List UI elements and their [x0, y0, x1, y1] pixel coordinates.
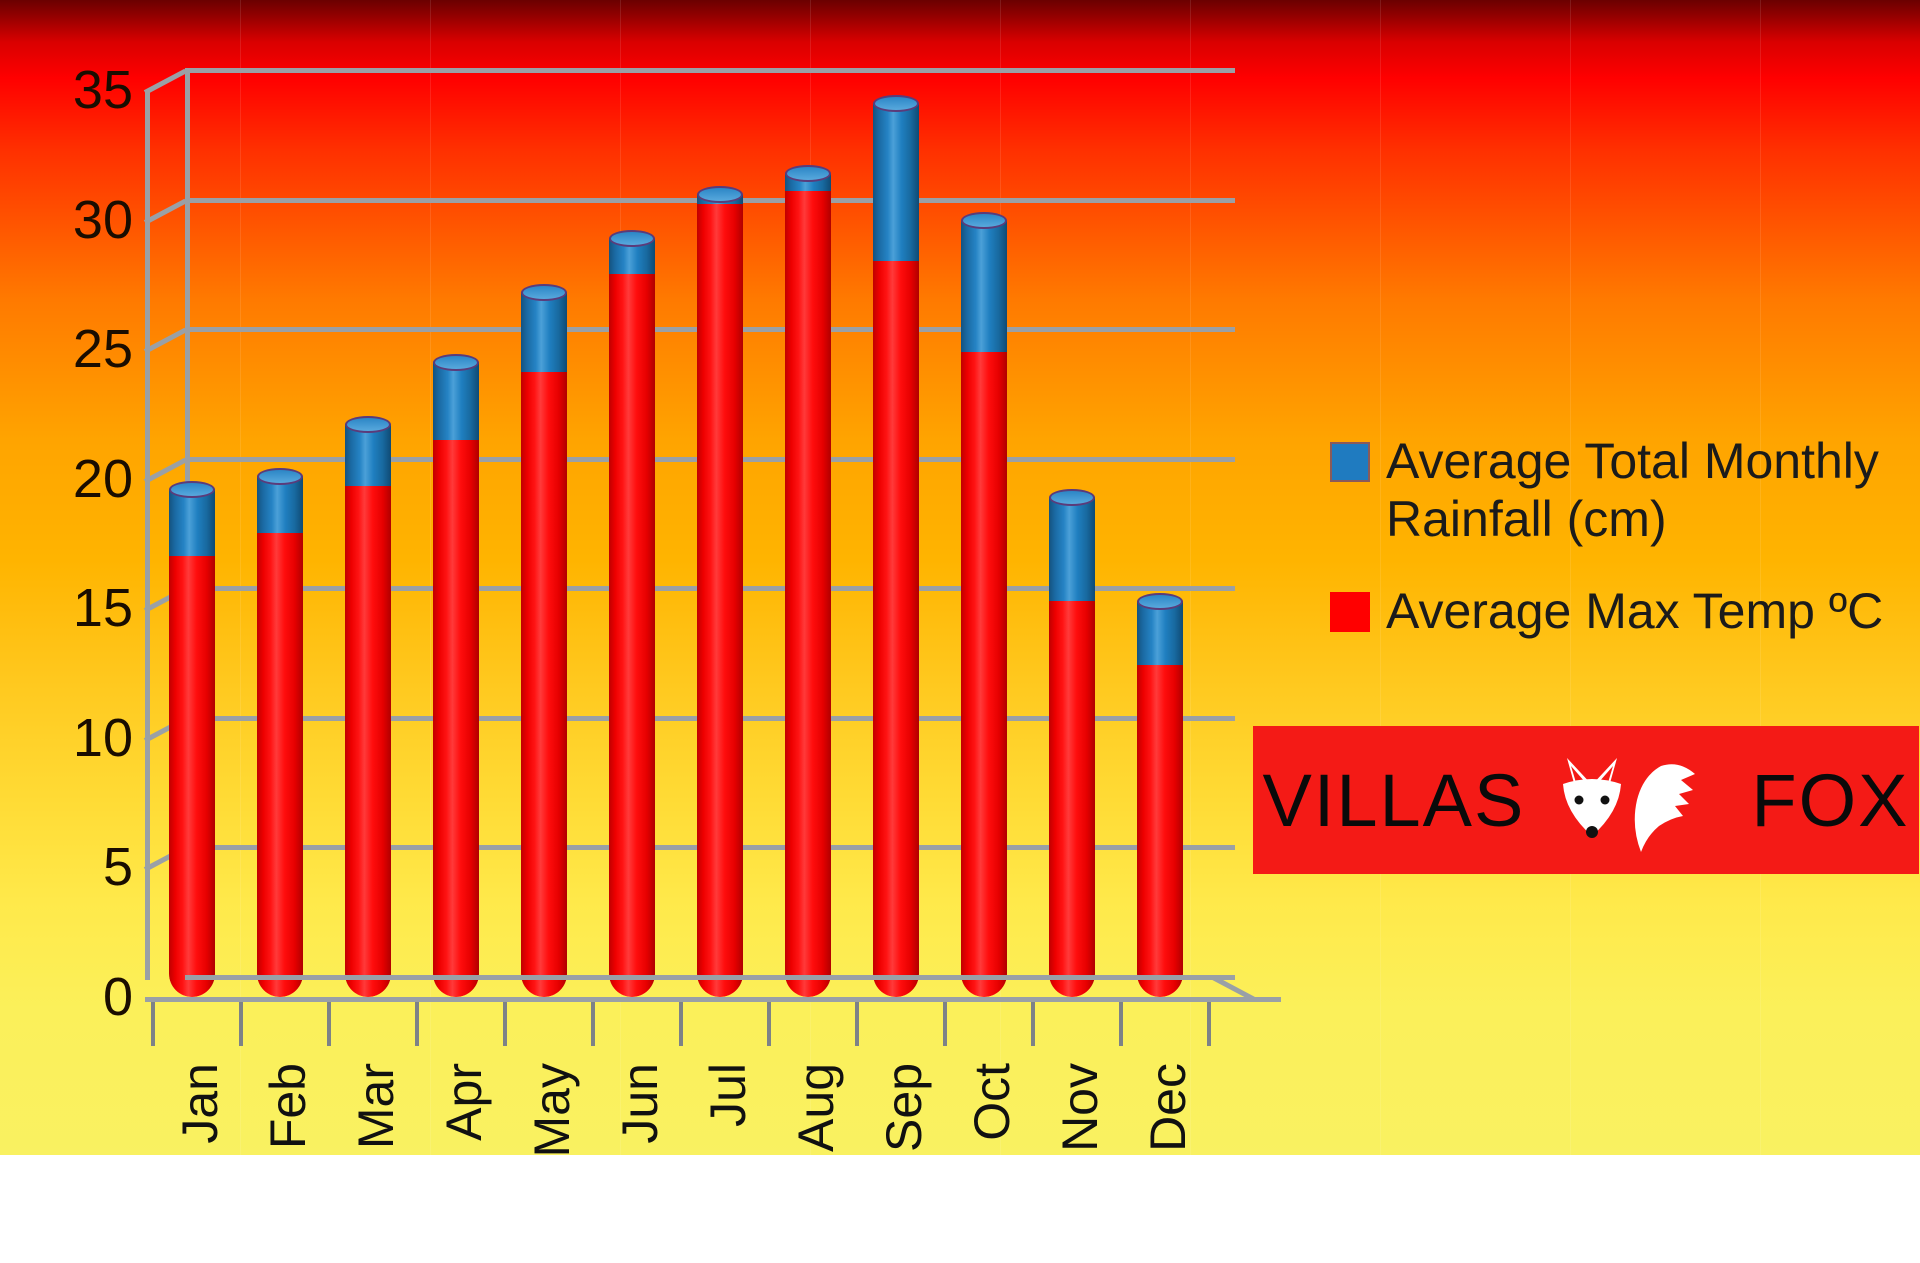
cylinder-top-cap — [697, 186, 743, 203]
segment-body — [1049, 601, 1095, 997]
x-axis-label-mar: Mar — [347, 1063, 405, 1263]
bar-segment-temperature-jul[interactable] — [697, 204, 743, 997]
chart-legend: Average Total Monthly Rainfall (cm) Aver… — [1330, 432, 1890, 674]
y-tick-label-0: 0 — [23, 966, 133, 1028]
bar-segment-temperature-sep[interactable] — [873, 261, 919, 997]
red-square-swatch-icon — [1330, 592, 1370, 632]
segment-body — [521, 372, 567, 997]
segment-body — [785, 191, 831, 997]
x-tick-end — [1207, 1002, 1211, 1046]
legend-item-rainfall[interactable]: Average Total Monthly Rainfall (cm) — [1330, 432, 1890, 548]
segment-body — [521, 292, 567, 372]
blue-square-swatch-icon — [1330, 442, 1370, 482]
gridline-35 — [185, 68, 1235, 73]
cylinder-top-cap — [961, 212, 1007, 229]
x-axis-label-jan: Jan — [171, 1063, 229, 1263]
segment-body — [169, 489, 215, 556]
bar-segment-temperature-jun[interactable] — [609, 274, 655, 997]
segment-body — [1137, 665, 1183, 997]
cylinder-top-cap — [785, 165, 831, 182]
logo-word-fox: FOX — [1751, 758, 1909, 843]
segment-body — [433, 362, 479, 440]
bar-segment-rainfall-mar[interactable] — [345, 424, 391, 486]
bar-segment-rainfall-apr[interactable] — [433, 362, 479, 440]
floor-front-edge — [145, 997, 1281, 1002]
gridline-riser-25 — [144, 328, 187, 354]
cylinder-top-cap — [609, 230, 655, 247]
bar-segment-temperature-may[interactable] — [521, 372, 567, 997]
cylinder-top-cap — [257, 468, 303, 485]
segment-body — [345, 486, 391, 997]
x-axis-label-feb: Feb — [259, 1063, 317, 1263]
x-tick-jul — [679, 1002, 683, 1046]
cylinder-top-cap — [433, 354, 479, 371]
bar-feb[interactable] — [257, 476, 303, 997]
bar-segment-temperature-mar[interactable] — [345, 486, 391, 997]
bar-mar[interactable] — [345, 424, 391, 997]
chart-root: JanFebMarAprMayJunJulAugSepOctNovDec 051… — [0, 0, 1920, 1155]
x-axis-label-oct: Oct — [963, 1063, 1021, 1263]
bar-jun[interactable] — [609, 238, 655, 997]
bar-oct[interactable] — [961, 220, 1007, 997]
bar-segment-rainfall-oct[interactable] — [961, 220, 1007, 352]
bar-segment-temperature-jan[interactable] — [169, 556, 215, 997]
x-tick-dec — [1119, 1002, 1123, 1046]
x-tick-mar — [327, 1002, 331, 1046]
bar-segment-rainfall-jul[interactable] — [697, 194, 743, 204]
bar-apr[interactable] — [433, 362, 479, 997]
x-tick-apr — [415, 1002, 419, 1046]
x-tick-nov — [1031, 1002, 1035, 1046]
y-tick-label-35: 35 — [23, 59, 133, 121]
cylinder-top-cap — [169, 481, 215, 498]
segment-body — [1049, 497, 1095, 601]
x-tick-jan — [151, 1002, 155, 1046]
segment-body — [169, 556, 215, 997]
x-axis-label-sep: Sep — [875, 1063, 933, 1263]
bar-segment-rainfall-sep[interactable] — [873, 103, 919, 261]
segment-body — [1137, 601, 1183, 666]
bar-segment-temperature-aug[interactable] — [785, 191, 831, 997]
floor-back-edge — [185, 975, 1235, 980]
bar-segment-rainfall-dec[interactable] — [1137, 601, 1183, 666]
y-tick-label-5: 5 — [23, 836, 133, 898]
segment-body — [961, 220, 1007, 352]
segment-body — [609, 274, 655, 997]
bar-segment-rainfall-may[interactable] — [521, 292, 567, 372]
y-axis-labels: 05101520253035 — [23, 68, 133, 980]
y-tick-label-15: 15 — [23, 577, 133, 639]
bar-segment-rainfall-jan[interactable] — [169, 489, 215, 556]
plot-area: JanFebMarAprMayJunJulAugSepOctNovDec 051… — [145, 68, 1235, 980]
bar-jan[interactable] — [169, 489, 215, 997]
bar-segment-rainfall-jun[interactable] — [609, 238, 655, 274]
x-axis-label-apr: Apr — [435, 1063, 493, 1263]
bar-segment-temperature-apr[interactable] — [433, 440, 479, 997]
x-tick-may — [503, 1002, 507, 1046]
y-tick-label-10: 10 — [23, 707, 133, 769]
y-tick-label-25: 25 — [23, 318, 133, 380]
y-tick-label-30: 30 — [23, 189, 133, 251]
cylinder-top-cap — [1049, 489, 1095, 506]
villas-fox-logo[interactable]: VILLAS FOX — [1253, 726, 1919, 874]
x-axis-label-dec: Dec — [1139, 1063, 1197, 1263]
bar-sep[interactable] — [873, 103, 919, 997]
cylinder-top-cap — [1137, 593, 1183, 610]
bar-nov[interactable] — [1049, 497, 1095, 997]
x-tick-jun — [591, 1002, 595, 1046]
bar-segment-temperature-nov[interactable] — [1049, 601, 1095, 997]
segment-body — [433, 440, 479, 997]
fox-head-icon — [1543, 740, 1733, 860]
bar-may[interactable] — [521, 292, 567, 997]
legend-label-temperature: Average Max Temp ºC — [1386, 582, 1883, 640]
bar-segment-rainfall-feb[interactable] — [257, 476, 303, 533]
legend-label-rainfall: Average Total Monthly Rainfall (cm) — [1386, 432, 1890, 548]
gridline-riser-30 — [144, 198, 187, 224]
x-axis-label-aug: Aug — [787, 1063, 845, 1263]
bar-aug[interactable] — [785, 173, 831, 997]
x-axis-label-nov: Nov — [1051, 1063, 1109, 1263]
x-tick-oct — [943, 1002, 947, 1046]
segment-body — [873, 261, 919, 997]
bar-segment-rainfall-nov[interactable] — [1049, 497, 1095, 601]
legend-item-temperature[interactable]: Average Max Temp ºC — [1330, 582, 1890, 640]
bar-segment-temperature-dec[interactable] — [1137, 665, 1183, 997]
bar-dec[interactable] — [1137, 601, 1183, 997]
logo-word-villas: VILLAS — [1262, 758, 1525, 843]
x-tick-sep — [855, 1002, 859, 1046]
bar-segment-temperature-feb[interactable] — [257, 533, 303, 997]
segment-body — [257, 533, 303, 997]
bar-segment-rainfall-aug[interactable] — [785, 173, 831, 191]
segment-body — [697, 204, 743, 997]
segment-body — [961, 352, 1007, 997]
x-axis-label-jul: Jul — [699, 1063, 757, 1263]
bar-jul[interactable] — [697, 194, 743, 997]
cylinder-top-cap — [873, 95, 919, 112]
cylinder-top-cap — [521, 284, 567, 301]
x-axis-label-may: May — [523, 1063, 581, 1263]
segment-body — [873, 103, 919, 261]
gridline-riser-20 — [144, 457, 187, 483]
bar-segment-temperature-oct[interactable] — [961, 352, 1007, 997]
y-tick-label-20: 20 — [23, 448, 133, 510]
x-axis-label-jun: Jun — [611, 1063, 669, 1263]
gridline-riser-35 — [144, 69, 187, 95]
x-tick-feb — [239, 1002, 243, 1046]
segment-body — [345, 424, 391, 486]
x-tick-aug — [767, 1002, 771, 1046]
